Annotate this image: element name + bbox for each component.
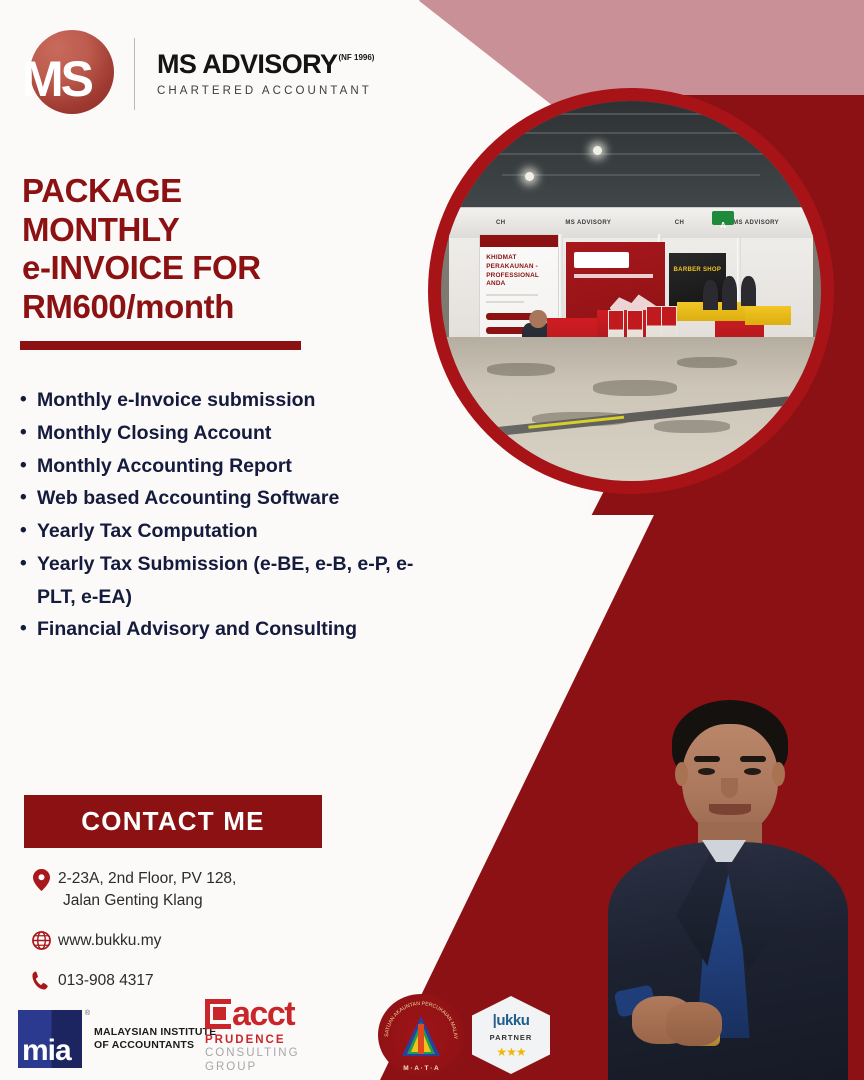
ear-right [772, 762, 785, 786]
bullet-icon: • [20, 417, 37, 449]
bukku-partner-badge: |ukku PARTNER ★★★ [472, 996, 550, 1074]
list-item: • Monthly Accounting Report [20, 450, 420, 483]
bullet-icon: • [20, 384, 37, 416]
headline-line-2: MONTHLY [22, 211, 261, 250]
bukku-wordmark: |ukku [493, 1012, 530, 1029]
contact-website-row[interactable]: www.bukku.my [24, 930, 354, 952]
list-item: • Web based Accounting Software [20, 482, 420, 515]
eyebrow-left [694, 756, 720, 762]
bullet-icon: • [20, 515, 37, 547]
company-name: MS ADVISORY [157, 51, 337, 78]
pacct-wordmark: acct [205, 997, 300, 1031]
bullet-icon: • [20, 613, 37, 645]
consulting-label: CONSULTING [205, 1046, 300, 1060]
prudence-label: PRUDENCE [205, 1034, 300, 1046]
exit-sign-label: A [720, 221, 726, 230]
mia-mark: mia ® [18, 1010, 82, 1068]
eye-right [744, 768, 761, 775]
contact-address-row: 2-23A, 2nd Floor, PV 128, Jalan Genting … [24, 868, 354, 912]
company-tagline: CHARTERED ACCOUNTANT [157, 85, 374, 97]
fascia-center-label: MS ADVISORY [565, 220, 611, 226]
exhibition-floor [441, 337, 821, 481]
partner-logos: mia ® MALAYSIAN INSTITUTE OF ACCOUNTANTS… [0, 992, 864, 1080]
globe-icon [24, 930, 58, 950]
barber-shop-text: BARBER SHOP [674, 267, 722, 274]
mata-subtext: M · A · T · A [403, 1065, 439, 1072]
registered-mark: ® [85, 1010, 90, 1017]
header-divider [134, 38, 135, 110]
rollup-headline: KHIDMAT PERAKAUNAN - PROFESSIONAL ANDA [486, 254, 551, 289]
ear-left [675, 762, 688, 786]
contact-me-button[interactable]: CONTACT ME [24, 795, 322, 848]
fascia-left-label: CH [496, 220, 505, 226]
list-item-label: Yearly Tax Submission (e-BE, e-B, e-P, e… [37, 548, 420, 614]
header-titles: MS ADVISORY (NF 1996) CHARTERED ACCOUNTA… [157, 51, 374, 97]
headline-line-1: PACKAGE [22, 172, 261, 211]
list-item-label: Monthly e-Invoice submission [37, 384, 420, 417]
feature-list: • Monthly e-Invoice submission • Monthly… [20, 384, 420, 646]
fascia-far-label: MS ADVISORY [733, 220, 779, 226]
list-item-label: Monthly Accounting Report [37, 450, 420, 483]
pacct-p-glyph [205, 999, 231, 1029]
headline-line-4: RM600/month [22, 288, 261, 327]
mia-name: MALAYSIAN INSTITUTE OF ACCOUNTANTS [94, 1026, 216, 1053]
address-value: 2-23A, 2nd Floor, PV 128, Jalan Genting … [58, 868, 236, 912]
prudence-acct-logo: acct PRUDENCE CONSULTING GROUP [205, 997, 300, 1074]
list-item: • Yearly Tax Submission (e-BE, e-B, e-P,… [20, 548, 420, 614]
eyebrow-right [740, 756, 766, 762]
mia-logo: mia ® MALAYSIAN INSTITUTE OF ACCOUNTANTS [18, 1010, 216, 1068]
phone-handset-icon [24, 970, 58, 990]
contact-me-label: CONTACT ME [81, 806, 264, 837]
fascia-right-label: CH [675, 220, 684, 226]
location-pin-icon [24, 868, 58, 891]
bullet-icon: • [20, 548, 37, 580]
brand-header: MS MS ADVISORY (NF 1996) CHARTERED ACCOU… [24, 26, 374, 122]
list-item: • Monthly Closing Account [20, 417, 420, 450]
mata-logo: PERSATUAN AKAUNTAN PERCUKAIAN MALAYSIA M… [378, 994, 464, 1076]
bukku-level: PARTNER [490, 1033, 533, 1042]
list-item-label: Monthly Closing Account [37, 417, 420, 450]
list-item-label: Financial Advisory and Consulting [37, 613, 420, 646]
ms-logo: MS [24, 26, 120, 122]
registration-number: (NF 1996) [338, 54, 374, 62]
contact-phone-row[interactable]: 013-908 4317 [24, 970, 354, 992]
bukku-stars: ★★★ [496, 1045, 525, 1059]
ceiling [441, 101, 821, 219]
headline-underline [20, 341, 301, 350]
eye-left [698, 768, 715, 775]
bullet-icon: • [20, 450, 37, 482]
flyer-page: CH MS ADVISORY CH MS ADVISORY A BARBER S… [0, 0, 864, 1080]
company-name-row: MS ADVISORY (NF 1996) [157, 51, 374, 78]
bullet-icon: • [20, 482, 37, 514]
headline-line-3: e-INVOICE FOR [22, 249, 261, 288]
logo-initials: MS [22, 54, 132, 104]
list-item: • Yearly Tax Computation [20, 515, 420, 548]
list-item: • Financial Advisory and Consulting [20, 613, 420, 646]
booth-photo-circle: CH MS ADVISORY CH MS ADVISORY A BARBER S… [428, 88, 834, 494]
website-value: www.bukku.my [58, 930, 161, 952]
phone-value: 013-908 4317 [58, 970, 154, 992]
nose [721, 778, 738, 798]
booth-photo: CH MS ADVISORY CH MS ADVISORY A BARBER S… [441, 101, 821, 481]
mouth [709, 804, 751, 815]
group-label: GROUP [205, 1060, 300, 1074]
list-item-label: Web based Accounting Software [37, 482, 420, 515]
page-title: PACKAGE MONTHLY e-INVOICE FOR RM600/mont… [22, 172, 261, 326]
list-item-label: Yearly Tax Computation [37, 515, 420, 548]
list-item: • Monthly e-Invoice submission [20, 384, 420, 417]
contact-details: 2-23A, 2nd Floor, PV 128, Jalan Genting … [24, 868, 354, 1010]
mia-wordmark: mia [22, 1036, 71, 1066]
